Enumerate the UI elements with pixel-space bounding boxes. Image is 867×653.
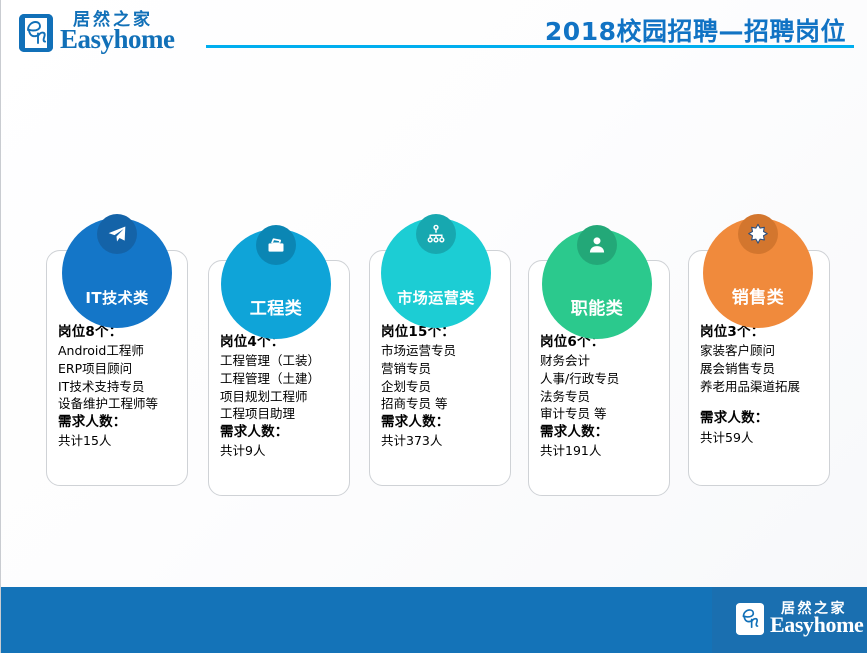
position-item: 企划专员 — [381, 378, 504, 396]
position-item: IT技术支持专员 — [58, 378, 181, 396]
demand-value: 共计15人 — [58, 432, 181, 450]
category-card-group: 岗位8个：Android工程师ERP项目顾问IT技术支持专员设备维护工程师等需求… — [1, 0, 867, 653]
position-item: Android工程师 — [58, 342, 181, 360]
card-body: 岗位8个：Android工程师ERP项目顾问IT技术支持专员设备维护工程师等需求… — [58, 323, 181, 450]
position-item: 家装客户顾问 — [700, 342, 823, 360]
toolbox-icon — [256, 225, 296, 265]
demand-label: 需求人数： — [58, 413, 181, 432]
category-label: 工程类 — [250, 294, 303, 319]
slide-footer: 居然之家 Easyhome — [1, 587, 867, 653]
position-item: 审计专员 等 — [540, 405, 663, 423]
person-icon — [577, 225, 617, 265]
category-bubble[interactable]: 工程类 — [221, 229, 331, 339]
position-item: ERP项目顾问 — [58, 360, 181, 378]
demand-label: 需求人数： — [540, 423, 663, 442]
paper-plane-icon — [97, 214, 137, 254]
footer-brand-name-en: Easyhome — [770, 614, 863, 636]
card-body: 岗位6个：财务会计人事/行政专员法务专员审计专员 等需求人数：共计191人 — [540, 333, 663, 460]
category-bubble[interactable]: 市场运营类 — [381, 218, 491, 328]
position-item: 工程管理（工装） — [220, 352, 343, 370]
position-item: 工程项目助理 — [220, 405, 343, 423]
demand-label: 需求人数： — [220, 423, 343, 442]
demand-value: 共计59人 — [700, 429, 823, 447]
demand-value: 共计191人 — [540, 442, 663, 460]
card-body: 岗位15个：市场运营专员营销专员企划专员招商专员 等需求人数：共计373人 — [381, 323, 504, 450]
category-bubble[interactable]: 销售类 — [703, 218, 813, 328]
slide-canvas: 居然之家 Easyhome 2018校园招聘—招聘岗位 岗位8个：Android… — [0, 0, 867, 653]
category-label: 销售类 — [732, 283, 785, 308]
category-bubble[interactable]: IT技术类 — [62, 218, 172, 328]
category-label: IT技术类 — [85, 287, 148, 308]
position-item: 营销专员 — [381, 360, 504, 378]
position-item: 市场运营专员 — [381, 342, 504, 360]
category-label: 职能类 — [571, 294, 624, 319]
position-item: 项目规划工程师 — [220, 388, 343, 406]
position-item: 设备维护工程师等 — [58, 395, 181, 413]
card-body: 岗位3个：家装客户顾问展会销售专员养老用品渠道拓展需求人数：共计59人 — [700, 323, 823, 446]
position-item: 招商专员 等 — [381, 395, 504, 413]
position-item: 养老用品渠道拓展 — [700, 378, 823, 396]
category-label: 市场运营类 — [397, 287, 475, 308]
star-badge-icon — [738, 214, 778, 254]
org-chart-icon — [416, 214, 456, 254]
category-bubble[interactable]: 职能类 — [542, 229, 652, 339]
position-item: 法务专员 — [540, 388, 663, 406]
demand-value: 共计9人 — [220, 442, 343, 460]
demand-value: 共计373人 — [381, 432, 504, 450]
card-spacer — [700, 395, 823, 409]
footer-brand-logo: 居然之家 Easyhome — [736, 602, 863, 636]
card-body: 岗位4个：工程管理（工装）工程管理（土建）项目规划工程师工程项目助理需求人数：共… — [220, 333, 343, 460]
position-item: 展会销售专员 — [700, 360, 823, 378]
demand-label: 需求人数： — [381, 413, 504, 432]
easyhome-monogram-icon — [736, 603, 764, 635]
footer-brand-wordmark: 居然之家 Easyhome — [770, 602, 863, 636]
demand-label: 需求人数： — [700, 409, 823, 428]
position-item: 工程管理（土建） — [220, 370, 343, 388]
position-item: 人事/行政专员 — [540, 370, 663, 388]
position-item: 财务会计 — [540, 352, 663, 370]
